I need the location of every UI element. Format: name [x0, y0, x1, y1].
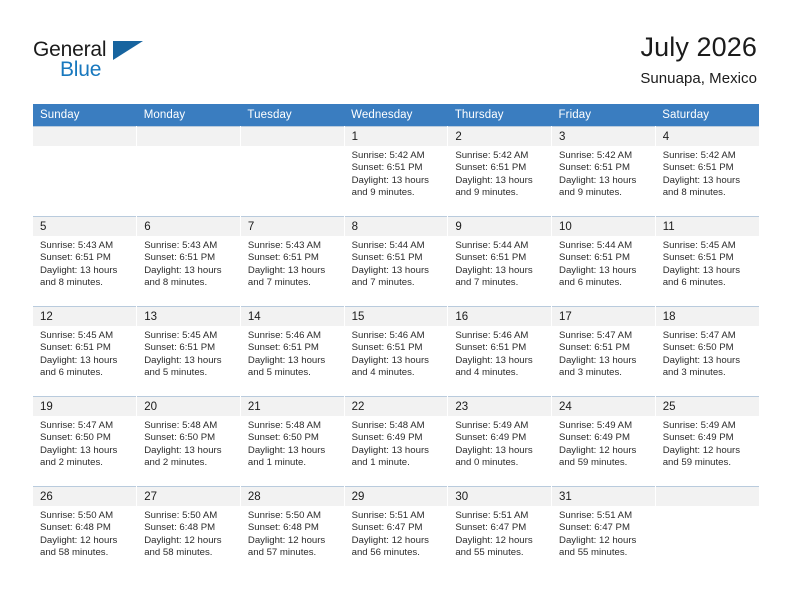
day-number	[137, 127, 240, 146]
sunset-text: Sunset: 6:51 PM	[663, 162, 753, 174]
daylight-text-line1: Daylight: 13 hours	[559, 355, 649, 367]
day-details: Sunrise: 5:50 AMSunset: 6:48 PMDaylight:…	[241, 506, 344, 559]
sunrise-text: Sunrise: 5:43 AM	[248, 240, 338, 252]
daylight-text-line2: and 59 minutes.	[559, 457, 649, 469]
sunset-text: Sunset: 6:51 PM	[352, 252, 442, 264]
sunset-text: Sunset: 6:50 PM	[144, 432, 234, 444]
daylight-text-line1: Daylight: 13 hours	[455, 265, 545, 277]
day-number: 29	[345, 487, 448, 506]
daylight-text-line1: Daylight: 13 hours	[663, 175, 753, 187]
daylight-text-line2: and 5 minutes.	[248, 367, 338, 379]
day-details: Sunrise: 5:50 AMSunset: 6:48 PMDaylight:…	[33, 506, 136, 559]
day-cell-inner: 14Sunrise: 5:46 AMSunset: 6:51 PMDayligh…	[241, 306, 344, 396]
calendar-day-cell[interactable]: 4Sunrise: 5:42 AMSunset: 6:51 PMDaylight…	[655, 126, 759, 216]
sunset-text: Sunset: 6:50 PM	[248, 432, 338, 444]
calendar-day-cell[interactable]: 25Sunrise: 5:49 AMSunset: 6:49 PMDayligh…	[655, 396, 759, 486]
daylight-text-line2: and 7 minutes.	[455, 277, 545, 289]
day-number: 15	[345, 307, 448, 326]
day-details: Sunrise: 5:45 AMSunset: 6:51 PMDaylight:…	[33, 326, 136, 379]
day-details: Sunrise: 5:43 AMSunset: 6:51 PMDaylight:…	[33, 236, 136, 289]
day-details: Sunrise: 5:46 AMSunset: 6:51 PMDaylight:…	[241, 326, 344, 379]
day-details: Sunrise: 5:49 AMSunset: 6:49 PMDaylight:…	[448, 416, 551, 469]
daylight-text-line2: and 59 minutes.	[663, 457, 753, 469]
sunrise-text: Sunrise: 5:42 AM	[559, 150, 649, 162]
sunset-text: Sunset: 6:47 PM	[559, 522, 649, 534]
calendar-day-cell[interactable]: 24Sunrise: 5:49 AMSunset: 6:49 PMDayligh…	[552, 396, 656, 486]
day-number: 26	[33, 487, 136, 506]
daylight-text-line2: and 56 minutes.	[352, 547, 442, 559]
calendar-day-cell[interactable]: 10Sunrise: 5:44 AMSunset: 6:51 PMDayligh…	[552, 216, 656, 306]
day-number	[241, 127, 344, 146]
sunrise-text: Sunrise: 5:50 AM	[144, 510, 234, 522]
sunset-text: Sunset: 6:51 PM	[40, 252, 130, 264]
sunset-text: Sunset: 6:48 PM	[40, 522, 130, 534]
daylight-text-line1: Daylight: 13 hours	[455, 445, 545, 457]
day-cell-inner: 30Sunrise: 5:51 AMSunset: 6:47 PMDayligh…	[448, 486, 551, 576]
daylight-text-line1: Daylight: 13 hours	[248, 355, 338, 367]
day-number: 14	[241, 307, 344, 326]
day-details	[241, 146, 344, 150]
sunset-text: Sunset: 6:51 PM	[455, 342, 545, 354]
daylight-text-line1: Daylight: 12 hours	[663, 445, 753, 457]
day-cell-inner: 19Sunrise: 5:47 AMSunset: 6:50 PMDayligh…	[33, 396, 136, 486]
day-cell-inner: 13Sunrise: 5:45 AMSunset: 6:51 PMDayligh…	[137, 306, 240, 396]
daylight-text-line1: Daylight: 13 hours	[663, 355, 753, 367]
calendar-day-cell[interactable]: 17Sunrise: 5:47 AMSunset: 6:51 PMDayligh…	[552, 306, 656, 396]
day-cell-inner	[241, 126, 344, 216]
calendar-day-cell[interactable]: 2Sunrise: 5:42 AMSunset: 6:51 PMDaylight…	[448, 126, 552, 216]
day-number: 16	[448, 307, 551, 326]
calendar-day-cell[interactable]: 6Sunrise: 5:43 AMSunset: 6:51 PMDaylight…	[137, 216, 241, 306]
daylight-text-line1: Daylight: 12 hours	[40, 535, 130, 547]
day-cell-inner: 1Sunrise: 5:42 AMSunset: 6:51 PMDaylight…	[345, 126, 448, 216]
sunrise-text: Sunrise: 5:48 AM	[352, 420, 442, 432]
day-details: Sunrise: 5:42 AMSunset: 6:51 PMDaylight:…	[448, 146, 551, 199]
day-details: Sunrise: 5:51 AMSunset: 6:47 PMDaylight:…	[552, 506, 655, 559]
daylight-text-line2: and 55 minutes.	[559, 547, 649, 559]
day-cell-inner: 4Sunrise: 5:42 AMSunset: 6:51 PMDaylight…	[656, 126, 759, 216]
day-details: Sunrise: 5:48 AMSunset: 6:50 PMDaylight:…	[241, 416, 344, 469]
sunset-text: Sunset: 6:51 PM	[248, 252, 338, 264]
day-number: 31	[552, 487, 655, 506]
sunset-text: Sunset: 6:51 PM	[248, 342, 338, 354]
sunset-text: Sunset: 6:48 PM	[144, 522, 234, 534]
day-details: Sunrise: 5:45 AMSunset: 6:51 PMDaylight:…	[656, 236, 759, 289]
day-number: 27	[137, 487, 240, 506]
sunset-text: Sunset: 6:47 PM	[455, 522, 545, 534]
sunrise-text: Sunrise: 5:42 AM	[352, 150, 442, 162]
calendar-header-row: Sunday Monday Tuesday Wednesday Thursday…	[33, 104, 759, 126]
sunrise-text: Sunrise: 5:46 AM	[455, 330, 545, 342]
day-details: Sunrise: 5:44 AMSunset: 6:51 PMDaylight:…	[448, 236, 551, 289]
daylight-text-line1: Daylight: 13 hours	[144, 355, 234, 367]
day-cell-inner: 3Sunrise: 5:42 AMSunset: 6:51 PMDaylight…	[552, 126, 655, 216]
calendar-day-cell-empty	[33, 126, 137, 216]
daylight-text-line2: and 7 minutes.	[352, 277, 442, 289]
daylight-text-line2: and 8 minutes.	[663, 187, 753, 199]
daylight-text-line2: and 58 minutes.	[40, 547, 130, 559]
daylight-text-line2: and 7 minutes.	[248, 277, 338, 289]
day-cell-inner: 11Sunrise: 5:45 AMSunset: 6:51 PMDayligh…	[656, 216, 759, 306]
calendar-day-cell[interactable]: 12Sunrise: 5:45 AMSunset: 6:51 PMDayligh…	[33, 306, 137, 396]
day-number: 30	[448, 487, 551, 506]
sunrise-text: Sunrise: 5:46 AM	[248, 330, 338, 342]
daylight-text-line1: Daylight: 13 hours	[352, 445, 442, 457]
daylight-text-line1: Daylight: 12 hours	[248, 535, 338, 547]
day-number: 23	[448, 397, 551, 416]
weekday-header-monday: Monday	[137, 104, 241, 126]
daylight-text-line2: and 5 minutes.	[144, 367, 234, 379]
sunrise-text: Sunrise: 5:45 AM	[663, 240, 753, 252]
sunrise-text: Sunrise: 5:51 AM	[455, 510, 545, 522]
page-title: July 2026	[640, 30, 757, 64]
daylight-text-line2: and 8 minutes.	[144, 277, 234, 289]
day-cell-inner: 10Sunrise: 5:44 AMSunset: 6:51 PMDayligh…	[552, 216, 655, 306]
weekday-header-sunday: Sunday	[33, 104, 137, 126]
location-subtitle: Sunuapa, Mexico	[640, 68, 757, 90]
daylight-text-line2: and 9 minutes.	[352, 187, 442, 199]
day-number: 7	[241, 217, 344, 236]
sunrise-text: Sunrise: 5:46 AM	[352, 330, 442, 342]
daylight-text-line1: Daylight: 13 hours	[455, 175, 545, 187]
calendar-day-cell[interactable]: 1Sunrise: 5:42 AMSunset: 6:51 PMDaylight…	[344, 126, 448, 216]
calendar-day-cell[interactable]: 19Sunrise: 5:47 AMSunset: 6:50 PMDayligh…	[33, 396, 137, 486]
sunset-text: Sunset: 6:51 PM	[144, 252, 234, 264]
sunrise-text: Sunrise: 5:51 AM	[352, 510, 442, 522]
day-details: Sunrise: 5:43 AMSunset: 6:51 PMDaylight:…	[137, 236, 240, 289]
day-number: 10	[552, 217, 655, 236]
calendar-day-cell[interactable]: 26Sunrise: 5:50 AMSunset: 6:48 PMDayligh…	[33, 486, 137, 576]
day-details: Sunrise: 5:42 AMSunset: 6:51 PMDaylight:…	[552, 146, 655, 199]
day-number: 28	[241, 487, 344, 506]
day-details: Sunrise: 5:46 AMSunset: 6:51 PMDaylight:…	[345, 326, 448, 379]
daylight-text-line1: Daylight: 12 hours	[455, 535, 545, 547]
day-number: 8	[345, 217, 448, 236]
sunrise-text: Sunrise: 5:45 AM	[144, 330, 234, 342]
day-cell-inner: 21Sunrise: 5:48 AMSunset: 6:50 PMDayligh…	[241, 396, 344, 486]
sunrise-text: Sunrise: 5:43 AM	[40, 240, 130, 252]
day-number: 5	[33, 217, 136, 236]
daylight-text-line2: and 4 minutes.	[352, 367, 442, 379]
day-number: 3	[552, 127, 655, 146]
daylight-text-line1: Daylight: 13 hours	[40, 265, 130, 277]
daylight-text-line1: Daylight: 13 hours	[455, 355, 545, 367]
sunrise-text: Sunrise: 5:48 AM	[248, 420, 338, 432]
daylight-text-line2: and 6 minutes.	[40, 367, 130, 379]
day-number: 25	[656, 397, 759, 416]
sunrise-text: Sunrise: 5:51 AM	[559, 510, 649, 522]
day-details	[137, 146, 240, 150]
day-number: 2	[448, 127, 551, 146]
weekday-header-saturday: Saturday	[655, 104, 759, 126]
daylight-text-line2: and 1 minute.	[248, 457, 338, 469]
sunrise-text: Sunrise: 5:44 AM	[352, 240, 442, 252]
calendar-week-row: 19Sunrise: 5:47 AMSunset: 6:50 PMDayligh…	[33, 396, 759, 486]
sunset-text: Sunset: 6:50 PM	[40, 432, 130, 444]
title-block: July 2026 Sunuapa, Mexico	[640, 30, 757, 90]
sunrise-text: Sunrise: 5:50 AM	[248, 510, 338, 522]
daylight-text-line2: and 9 minutes.	[559, 187, 649, 199]
day-number: 4	[656, 127, 759, 146]
sunset-text: Sunset: 6:51 PM	[40, 342, 130, 354]
day-details	[656, 506, 759, 510]
day-cell-inner: 20Sunrise: 5:48 AMSunset: 6:50 PMDayligh…	[137, 396, 240, 486]
logo-text-blue: Blue	[60, 58, 101, 82]
day-cell-inner: 18Sunrise: 5:47 AMSunset: 6:50 PMDayligh…	[656, 306, 759, 396]
day-details: Sunrise: 5:42 AMSunset: 6:51 PMDaylight:…	[345, 146, 448, 199]
day-cell-inner: 27Sunrise: 5:50 AMSunset: 6:48 PMDayligh…	[137, 486, 240, 576]
sunset-text: Sunset: 6:50 PM	[663, 342, 753, 354]
calendar-day-cell-empty	[240, 126, 344, 216]
sunrise-text: Sunrise: 5:49 AM	[455, 420, 545, 432]
sunrise-text: Sunrise: 5:49 AM	[663, 420, 753, 432]
day-cell-inner: 12Sunrise: 5:45 AMSunset: 6:51 PMDayligh…	[33, 306, 136, 396]
day-details	[33, 146, 136, 150]
sunrise-text: Sunrise: 5:44 AM	[559, 240, 649, 252]
sunset-text: Sunset: 6:51 PM	[352, 162, 442, 174]
daylight-text-line2: and 3 minutes.	[559, 367, 649, 379]
calendar-page: General Blue July 2026 Sunuapa, Mexico S…	[0, 0, 792, 612]
daylight-text-line2: and 6 minutes.	[559, 277, 649, 289]
weekday-header-wednesday: Wednesday	[344, 104, 448, 126]
calendar-week-row: 5Sunrise: 5:43 AMSunset: 6:51 PMDaylight…	[33, 216, 759, 306]
day-number: 11	[656, 217, 759, 236]
day-cell-inner: 26Sunrise: 5:50 AMSunset: 6:48 PMDayligh…	[33, 486, 136, 576]
calendar-day-cell[interactable]: 31Sunrise: 5:51 AMSunset: 6:47 PMDayligh…	[552, 486, 656, 576]
day-number: 19	[33, 397, 136, 416]
day-cell-inner: 22Sunrise: 5:48 AMSunset: 6:49 PMDayligh…	[345, 396, 448, 486]
sunset-text: Sunset: 6:51 PM	[559, 252, 649, 264]
daylight-text-line1: Daylight: 12 hours	[144, 535, 234, 547]
day-cell-inner: 31Sunrise: 5:51 AMSunset: 6:47 PMDayligh…	[552, 486, 655, 576]
day-cell-inner: 25Sunrise: 5:49 AMSunset: 6:49 PMDayligh…	[656, 396, 759, 486]
day-cell-inner: 5Sunrise: 5:43 AMSunset: 6:51 PMDaylight…	[33, 216, 136, 306]
sunset-text: Sunset: 6:51 PM	[663, 252, 753, 264]
sunrise-text: Sunrise: 5:48 AM	[144, 420, 234, 432]
daylight-text-line2: and 6 minutes.	[663, 277, 753, 289]
calendar-day-cell[interactable]: 21Sunrise: 5:48 AMSunset: 6:50 PMDayligh…	[240, 396, 344, 486]
daylight-text-line1: Daylight: 13 hours	[40, 445, 130, 457]
day-number: 20	[137, 397, 240, 416]
calendar-day-cell[interactable]: 13Sunrise: 5:45 AMSunset: 6:51 PMDayligh…	[137, 306, 241, 396]
calendar-day-cell[interactable]: 20Sunrise: 5:48 AMSunset: 6:50 PMDayligh…	[137, 396, 241, 486]
calendar-day-cell[interactable]: 28Sunrise: 5:50 AMSunset: 6:48 PMDayligh…	[240, 486, 344, 576]
calendar-day-cell[interactable]: 30Sunrise: 5:51 AMSunset: 6:47 PMDayligh…	[448, 486, 552, 576]
day-cell-inner: 23Sunrise: 5:49 AMSunset: 6:49 PMDayligh…	[448, 396, 551, 486]
sunset-text: Sunset: 6:47 PM	[352, 522, 442, 534]
day-details: Sunrise: 5:49 AMSunset: 6:49 PMDaylight:…	[552, 416, 655, 469]
weekday-header-friday: Friday	[552, 104, 656, 126]
day-number: 24	[552, 397, 655, 416]
weekday-header-tuesday: Tuesday	[240, 104, 344, 126]
calendar-week-row: 26Sunrise: 5:50 AMSunset: 6:48 PMDayligh…	[33, 486, 759, 576]
day-cell-inner: 29Sunrise: 5:51 AMSunset: 6:47 PMDayligh…	[345, 486, 448, 576]
calendar-day-cell[interactable]: 29Sunrise: 5:51 AMSunset: 6:47 PMDayligh…	[344, 486, 448, 576]
day-number: 13	[137, 307, 240, 326]
day-details: Sunrise: 5:42 AMSunset: 6:51 PMDaylight:…	[656, 146, 759, 199]
day-details: Sunrise: 5:44 AMSunset: 6:51 PMDaylight:…	[345, 236, 448, 289]
day-details: Sunrise: 5:47 AMSunset: 6:51 PMDaylight:…	[552, 326, 655, 379]
daylight-text-line2: and 8 minutes.	[40, 277, 130, 289]
daylight-text-line1: Daylight: 13 hours	[352, 355, 442, 367]
day-details: Sunrise: 5:47 AMSunset: 6:50 PMDaylight:…	[656, 326, 759, 379]
day-number: 21	[241, 397, 344, 416]
calendar-day-cell[interactable]: 5Sunrise: 5:43 AMSunset: 6:51 PMDaylight…	[33, 216, 137, 306]
sunrise-text: Sunrise: 5:47 AM	[559, 330, 649, 342]
calendar-table: Sunday Monday Tuesday Wednesday Thursday…	[33, 104, 759, 576]
sunrise-text: Sunrise: 5:47 AM	[40, 420, 130, 432]
calendar-body: 1Sunrise: 5:42 AMSunset: 6:51 PMDaylight…	[33, 126, 759, 576]
day-details: Sunrise: 5:51 AMSunset: 6:47 PMDaylight:…	[345, 506, 448, 559]
daylight-text-line2: and 4 minutes.	[455, 367, 545, 379]
sunset-text: Sunset: 6:48 PM	[248, 522, 338, 534]
day-cell-inner: 15Sunrise: 5:46 AMSunset: 6:51 PMDayligh…	[345, 306, 448, 396]
day-cell-inner: 8Sunrise: 5:44 AMSunset: 6:51 PMDaylight…	[345, 216, 448, 306]
general-blue-logo[interactable]: General Blue	[33, 38, 163, 84]
daylight-text-line1: Daylight: 13 hours	[248, 445, 338, 457]
sunrise-text: Sunrise: 5:42 AM	[663, 150, 753, 162]
day-cell-inner: 7Sunrise: 5:43 AMSunset: 6:51 PMDaylight…	[241, 216, 344, 306]
daylight-text-line2: and 2 minutes.	[40, 457, 130, 469]
daylight-text-line2: and 3 minutes.	[663, 367, 753, 379]
sunrise-text: Sunrise: 5:42 AM	[455, 150, 545, 162]
day-details: Sunrise: 5:48 AMSunset: 6:49 PMDaylight:…	[345, 416, 448, 469]
page-header: General Blue July 2026 Sunuapa, Mexico	[0, 0, 792, 104]
day-number: 1	[345, 127, 448, 146]
day-number	[656, 487, 759, 506]
day-details: Sunrise: 5:48 AMSunset: 6:50 PMDaylight:…	[137, 416, 240, 469]
daylight-text-line1: Daylight: 13 hours	[559, 175, 649, 187]
day-details: Sunrise: 5:45 AMSunset: 6:51 PMDaylight:…	[137, 326, 240, 379]
daylight-text-line1: Daylight: 13 hours	[40, 355, 130, 367]
sunset-text: Sunset: 6:51 PM	[559, 342, 649, 354]
day-details: Sunrise: 5:43 AMSunset: 6:51 PMDaylight:…	[241, 236, 344, 289]
daylight-text-line2: and 0 minutes.	[455, 457, 545, 469]
sunset-text: Sunset: 6:51 PM	[144, 342, 234, 354]
calendar-day-cell[interactable]: 9Sunrise: 5:44 AMSunset: 6:51 PMDaylight…	[448, 216, 552, 306]
calendar-day-cell-empty	[137, 126, 241, 216]
day-details: Sunrise: 5:51 AMSunset: 6:47 PMDaylight:…	[448, 506, 551, 559]
day-cell-inner: 17Sunrise: 5:47 AMSunset: 6:51 PMDayligh…	[552, 306, 655, 396]
calendar-day-cell[interactable]: 16Sunrise: 5:46 AMSunset: 6:51 PMDayligh…	[448, 306, 552, 396]
calendar-day-cell[interactable]: 22Sunrise: 5:48 AMSunset: 6:49 PMDayligh…	[344, 396, 448, 486]
sunrise-text: Sunrise: 5:44 AM	[455, 240, 545, 252]
day-cell-inner: 24Sunrise: 5:49 AMSunset: 6:49 PMDayligh…	[552, 396, 655, 486]
logo-triangle-icon	[113, 41, 143, 60]
weekday-header-thursday: Thursday	[448, 104, 552, 126]
daylight-text-line1: Daylight: 13 hours	[663, 265, 753, 277]
daylight-text-line1: Daylight: 13 hours	[144, 265, 234, 277]
day-cell-inner: 6Sunrise: 5:43 AMSunset: 6:51 PMDaylight…	[137, 216, 240, 306]
daylight-text-line2: and 2 minutes.	[144, 457, 234, 469]
sunrise-text: Sunrise: 5:45 AM	[40, 330, 130, 342]
day-cell-inner: 28Sunrise: 5:50 AMSunset: 6:48 PMDayligh…	[241, 486, 344, 576]
calendar-day-cell-empty	[655, 486, 759, 576]
daylight-text-line1: Daylight: 13 hours	[352, 175, 442, 187]
day-number: 18	[656, 307, 759, 326]
sunrise-text: Sunrise: 5:49 AM	[559, 420, 649, 432]
day-details: Sunrise: 5:44 AMSunset: 6:51 PMDaylight:…	[552, 236, 655, 289]
day-details: Sunrise: 5:46 AMSunset: 6:51 PMDaylight:…	[448, 326, 551, 379]
day-number: 9	[448, 217, 551, 236]
daylight-text-line2: and 1 minute.	[352, 457, 442, 469]
calendar-day-cell[interactable]: 11Sunrise: 5:45 AMSunset: 6:51 PMDayligh…	[655, 216, 759, 306]
day-number: 17	[552, 307, 655, 326]
calendar-day-cell[interactable]: 18Sunrise: 5:47 AMSunset: 6:50 PMDayligh…	[655, 306, 759, 396]
day-cell-inner: 16Sunrise: 5:46 AMSunset: 6:51 PMDayligh…	[448, 306, 551, 396]
calendar-day-cell[interactable]: 7Sunrise: 5:43 AMSunset: 6:51 PMDaylight…	[240, 216, 344, 306]
daylight-text-line2: and 57 minutes.	[248, 547, 338, 559]
daylight-text-line1: Daylight: 12 hours	[559, 535, 649, 547]
daylight-text-line1: Daylight: 13 hours	[248, 265, 338, 277]
calendar-day-cell[interactable]: 3Sunrise: 5:42 AMSunset: 6:51 PMDaylight…	[552, 126, 656, 216]
day-number	[33, 127, 136, 146]
daylight-text-line2: and 55 minutes.	[455, 547, 545, 559]
day-cell-inner: 9Sunrise: 5:44 AMSunset: 6:51 PMDaylight…	[448, 216, 551, 306]
sunset-text: Sunset: 6:51 PM	[559, 162, 649, 174]
sunrise-text: Sunrise: 5:43 AM	[144, 240, 234, 252]
daylight-text-line1: Daylight: 13 hours	[559, 265, 649, 277]
daylight-text-line2: and 9 minutes.	[455, 187, 545, 199]
day-details: Sunrise: 5:49 AMSunset: 6:49 PMDaylight:…	[656, 416, 759, 469]
sunset-text: Sunset: 6:49 PM	[559, 432, 649, 444]
sunset-text: Sunset: 6:51 PM	[455, 252, 545, 264]
daylight-text-line1: Daylight: 13 hours	[352, 265, 442, 277]
calendar-week-row: 12Sunrise: 5:45 AMSunset: 6:51 PMDayligh…	[33, 306, 759, 396]
daylight-text-line1: Daylight: 12 hours	[352, 535, 442, 547]
calendar-day-cell[interactable]: 23Sunrise: 5:49 AMSunset: 6:49 PMDayligh…	[448, 396, 552, 486]
day-cell-inner	[137, 126, 240, 216]
sunset-text: Sunset: 6:51 PM	[455, 162, 545, 174]
daylight-text-line1: Daylight: 12 hours	[559, 445, 649, 457]
sunrise-text: Sunrise: 5:50 AM	[40, 510, 130, 522]
sunset-text: Sunset: 6:49 PM	[352, 432, 442, 444]
day-details: Sunrise: 5:47 AMSunset: 6:50 PMDaylight:…	[33, 416, 136, 469]
day-number: 12	[33, 307, 136, 326]
calendar-day-cell[interactable]: 14Sunrise: 5:46 AMSunset: 6:51 PMDayligh…	[240, 306, 344, 396]
sunset-text: Sunset: 6:49 PM	[663, 432, 753, 444]
daylight-text-line1: Daylight: 13 hours	[144, 445, 234, 457]
day-details: Sunrise: 5:50 AMSunset: 6:48 PMDaylight:…	[137, 506, 240, 559]
calendar-day-cell[interactable]: 27Sunrise: 5:50 AMSunset: 6:48 PMDayligh…	[137, 486, 241, 576]
day-cell-inner	[656, 486, 759, 576]
sunrise-text: Sunrise: 5:47 AM	[663, 330, 753, 342]
sunset-text: Sunset: 6:49 PM	[455, 432, 545, 444]
day-cell-inner: 2Sunrise: 5:42 AMSunset: 6:51 PMDaylight…	[448, 126, 551, 216]
daylight-text-line2: and 58 minutes.	[144, 547, 234, 559]
calendar-day-cell[interactable]: 15Sunrise: 5:46 AMSunset: 6:51 PMDayligh…	[344, 306, 448, 396]
calendar-week-row: 1Sunrise: 5:42 AMSunset: 6:51 PMDaylight…	[33, 126, 759, 216]
sunset-text: Sunset: 6:51 PM	[352, 342, 442, 354]
day-number: 6	[137, 217, 240, 236]
day-number: 22	[345, 397, 448, 416]
day-cell-inner	[33, 126, 136, 216]
calendar-day-cell[interactable]: 8Sunrise: 5:44 AMSunset: 6:51 PMDaylight…	[344, 216, 448, 306]
